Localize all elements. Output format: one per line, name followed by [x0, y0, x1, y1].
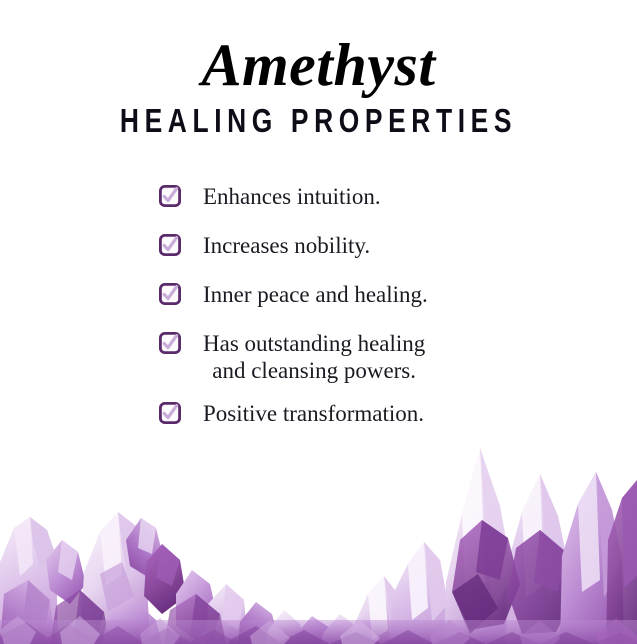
checked-checkbox-icon [159, 402, 181, 424]
checked-checkbox-icon [159, 283, 181, 305]
checked-checkbox-icon [159, 332, 181, 354]
page-title: Amethyst [0, 34, 637, 96]
list-item-label: Positive transformation. [181, 400, 424, 427]
list-item: Inner peace and healing. [0, 281, 637, 308]
list-item: Enhances intuition. [0, 183, 637, 210]
list-item: Has outstanding healing and cleansing po… [0, 330, 637, 384]
poster-header: Amethyst HEALING PROPERTIES [0, 0, 637, 138]
list-item-label: Inner peace and healing. [181, 281, 428, 308]
list-item: Increases nobility. [0, 232, 637, 259]
amethyst-crystal-cluster-photo [0, 444, 637, 644]
page-subtitle: HEALING PROPERTIES [64, 104, 574, 138]
list-item: Positive transformation. [0, 400, 637, 427]
list-item-label: Enhances intuition. [181, 183, 381, 210]
checked-checkbox-icon [159, 185, 181, 207]
list-item-label: Has outstanding healing and cleansing po… [181, 330, 425, 384]
poster-canvas: Amethyst HEALING PROPERTIES Enhances int… [0, 0, 637, 644]
list-item-label: Increases nobility. [181, 232, 370, 259]
healing-properties-list: Enhances intuition. Increases nobility. … [0, 183, 637, 427]
checked-checkbox-icon [159, 234, 181, 256]
